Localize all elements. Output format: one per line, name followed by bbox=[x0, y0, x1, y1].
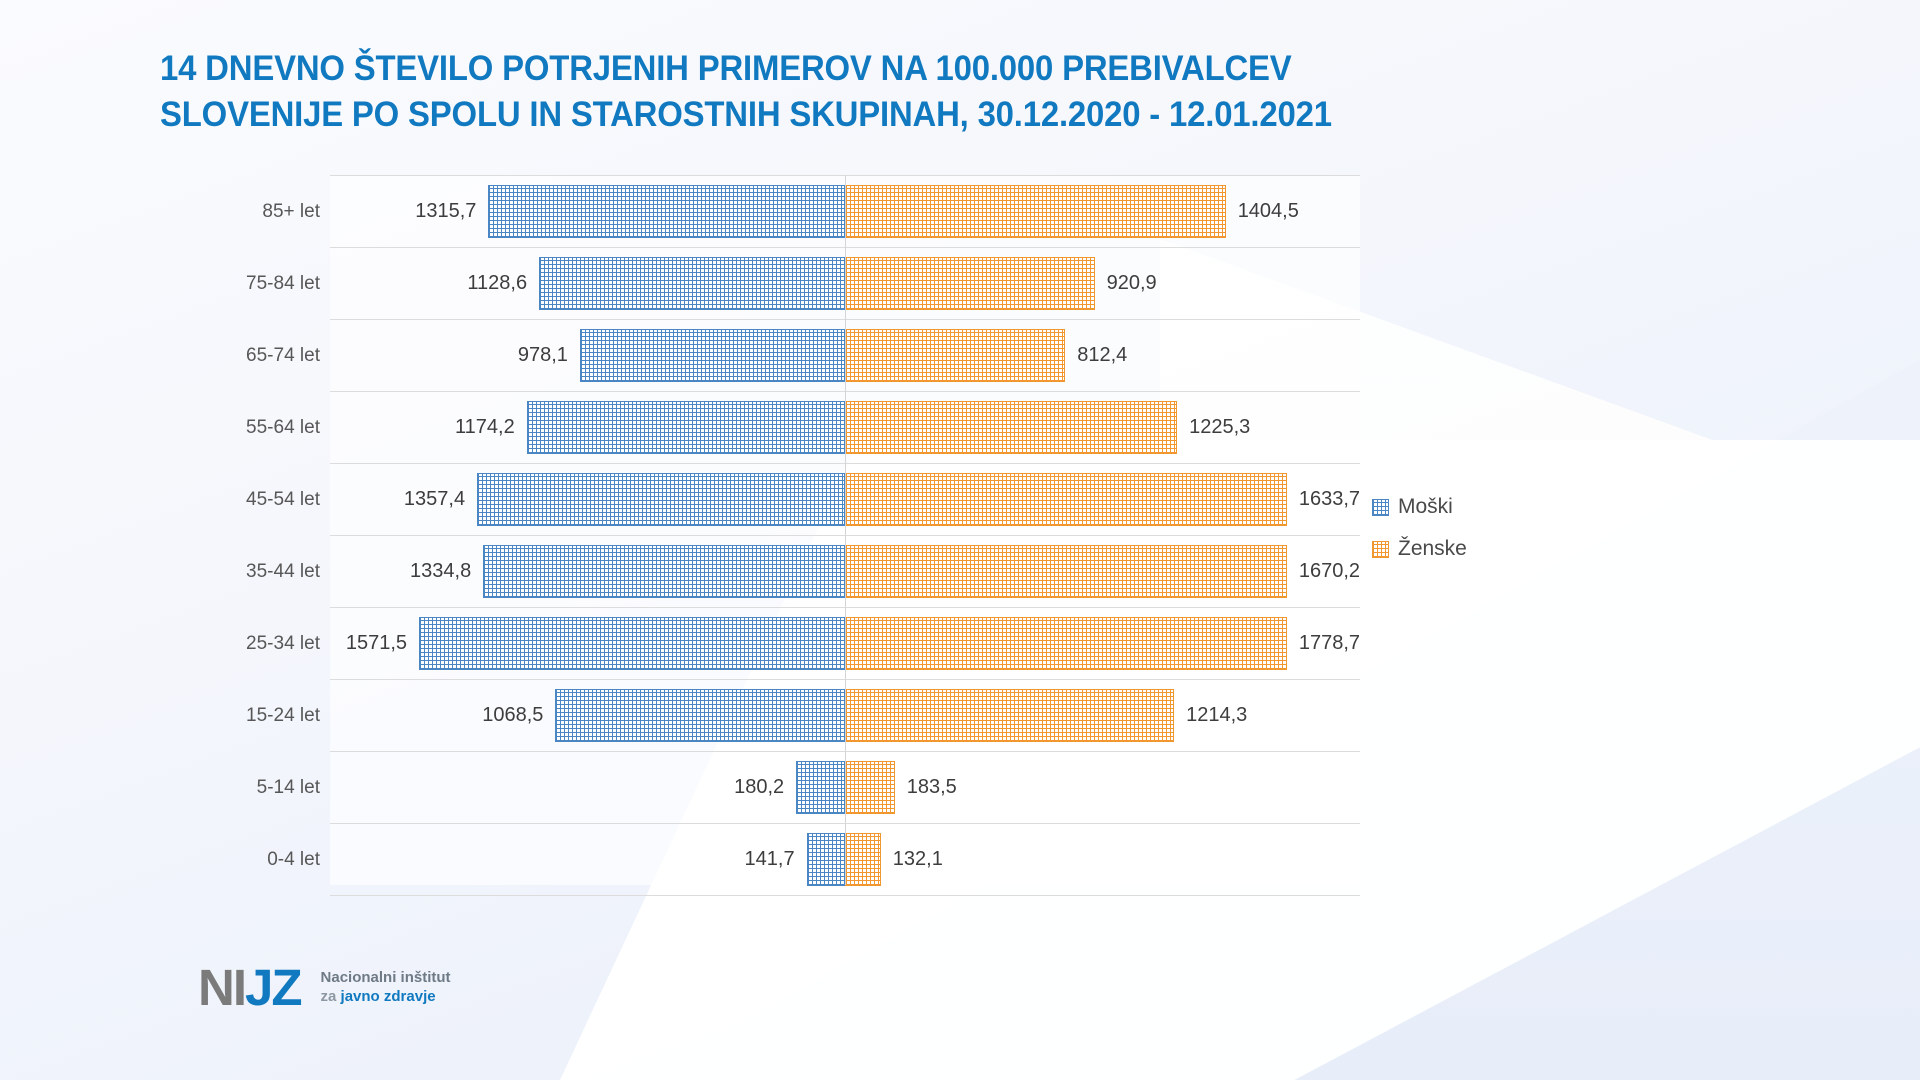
nijz-logo: NIJZ Nacionalni inštitut za javno zdravj… bbox=[198, 962, 451, 1013]
female-half: 1778,7 bbox=[845, 608, 1360, 679]
male-half: 978,1 bbox=[330, 320, 845, 391]
logo-jz-text: JZ bbox=[245, 959, 301, 1016]
legend-item-zenske[interactable]: Ženske bbox=[1372, 537, 1467, 561]
logo-tagline-line1: Nacionalni inštitut bbox=[321, 969, 451, 987]
female-value-label: 1225,3 bbox=[1189, 416, 1250, 439]
male-bar[interactable] bbox=[539, 257, 845, 310]
category-label: 35-44 let bbox=[195, 536, 320, 607]
female-half: 920,9 bbox=[845, 248, 1360, 319]
logo-tagline-prefix: za bbox=[321, 988, 341, 1005]
female-half: 132,1 bbox=[845, 824, 1360, 895]
legend-label: Moški bbox=[1398, 495, 1453, 519]
female-half: 1670,2 bbox=[845, 536, 1360, 607]
center-axis-line bbox=[845, 175, 846, 885]
female-bar[interactable] bbox=[845, 257, 1095, 310]
female-value-label: 920,9 bbox=[1107, 272, 1157, 295]
male-half: 1334,8 bbox=[330, 536, 845, 607]
female-half: 1633,7 bbox=[845, 464, 1360, 535]
male-value-label: 1334,8 bbox=[410, 560, 471, 583]
female-bar[interactable] bbox=[845, 761, 895, 814]
logo-tagline: Nacionalni inštitut za javno zdravje bbox=[321, 969, 451, 1006]
category-label: 5-14 let bbox=[195, 752, 320, 823]
female-half: 1225,3 bbox=[845, 392, 1360, 463]
male-half: 1357,4 bbox=[330, 464, 845, 535]
category-label: 55-64 let bbox=[195, 392, 320, 463]
category-label: 45-54 let bbox=[195, 464, 320, 535]
chart-legend: MoškiŽenske bbox=[1372, 495, 1467, 579]
category-label: 25-34 let bbox=[195, 608, 320, 679]
male-bar[interactable] bbox=[488, 185, 845, 238]
logo-tagline-line2: za javno zdravje bbox=[321, 988, 451, 1006]
legend-label: Ženske bbox=[1398, 537, 1467, 561]
male-bar[interactable] bbox=[527, 401, 845, 454]
male-bar[interactable] bbox=[419, 617, 845, 670]
female-bar[interactable] bbox=[845, 329, 1065, 382]
female-value-label: 1404,5 bbox=[1238, 200, 1299, 223]
male-value-label: 1315,7 bbox=[415, 200, 476, 223]
male-half: 1174,2 bbox=[330, 392, 845, 463]
logo-ni-text: NI bbox=[198, 959, 245, 1016]
male-half: 1128,6 bbox=[330, 248, 845, 319]
female-bar[interactable] bbox=[845, 473, 1287, 526]
category-label: 0-4 let bbox=[195, 824, 320, 895]
category-label: 75-84 let bbox=[195, 248, 320, 319]
male-bar[interactable] bbox=[555, 689, 845, 742]
female-half: 812,4 bbox=[845, 320, 1360, 391]
plot-area: 85+ let1315,71404,575-84 let1128,6920,96… bbox=[330, 175, 1360, 885]
male-value-label: 180,2 bbox=[734, 776, 784, 799]
male-bar[interactable] bbox=[807, 833, 845, 886]
male-half: 141,7 bbox=[330, 824, 845, 895]
logo-tagline-bold: javno zdravje bbox=[341, 988, 436, 1005]
legend-item-moski[interactable]: Moški bbox=[1372, 495, 1467, 519]
female-value-label: 1633,7 bbox=[1299, 488, 1360, 511]
male-value-label: 1571,5 bbox=[346, 632, 407, 655]
female-half: 183,5 bbox=[845, 752, 1360, 823]
male-half: 1068,5 bbox=[330, 680, 845, 751]
category-label: 65-74 let bbox=[195, 320, 320, 391]
male-value-label: 1068,5 bbox=[482, 704, 543, 727]
female-bar[interactable] bbox=[845, 545, 1287, 598]
male-bar[interactable] bbox=[477, 473, 845, 526]
male-bar[interactable] bbox=[483, 545, 845, 598]
logo-wordmark: NIJZ bbox=[198, 962, 301, 1013]
page-title: 14 DNEVNO ŠTEVILO POTRJENIH PRIMEROV NA … bbox=[160, 46, 1626, 138]
female-value-label: 132,1 bbox=[893, 848, 943, 871]
female-bar[interactable] bbox=[845, 833, 881, 886]
male-value-label: 141,7 bbox=[745, 848, 795, 871]
female-half: 1214,3 bbox=[845, 680, 1360, 751]
female-bar[interactable] bbox=[845, 401, 1177, 454]
female-bar[interactable] bbox=[845, 185, 1226, 238]
male-half: 180,2 bbox=[330, 752, 845, 823]
legend-swatch-icon bbox=[1372, 541, 1389, 558]
female-value-label: 1670,2 bbox=[1299, 560, 1360, 583]
male-value-label: 978,1 bbox=[518, 344, 568, 367]
category-label: 15-24 let bbox=[195, 680, 320, 751]
female-value-label: 812,4 bbox=[1077, 344, 1127, 367]
male-half: 1571,5 bbox=[330, 608, 845, 679]
female-bar[interactable] bbox=[845, 617, 1287, 670]
category-label: 85+ let bbox=[195, 176, 320, 247]
female-bar[interactable] bbox=[845, 689, 1174, 742]
male-bar[interactable] bbox=[580, 329, 845, 382]
female-value-label: 183,5 bbox=[907, 776, 957, 799]
male-bar[interactable] bbox=[796, 761, 845, 814]
male-value-label: 1128,6 bbox=[467, 272, 527, 295]
chart-container: 85+ let1315,71404,575-84 let1128,6920,96… bbox=[200, 175, 1360, 885]
female-value-label: 1214,3 bbox=[1186, 704, 1247, 727]
male-value-label: 1174,2 bbox=[455, 416, 515, 439]
female-value-label: 1778,7 bbox=[1299, 632, 1360, 655]
male-half: 1315,7 bbox=[330, 176, 845, 247]
legend-swatch-icon bbox=[1372, 499, 1389, 516]
female-half: 1404,5 bbox=[845, 176, 1360, 247]
male-value-label: 1357,4 bbox=[404, 488, 465, 511]
